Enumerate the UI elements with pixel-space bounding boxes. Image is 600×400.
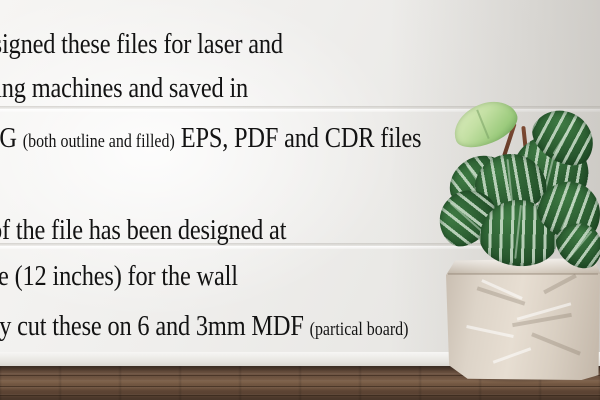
text-overlay: esigned these files for laser and tting … [0, 0, 600, 400]
overlay-line-3: VG (both outline and filled) EPS, PDF an… [0, 122, 421, 155]
overlay-line-4: of the file has been designed at [0, 214, 286, 247]
overlay-line-2: tting machines and saved in [0, 72, 248, 105]
overlay-line-6-note: (partical board) [310, 319, 409, 340]
overlay-line-5: de (12 inches) for the wall [0, 260, 238, 293]
product-mockup-scene: esigned these files for laser and tting … [0, 0, 600, 400]
overlay-line-1: esigned these files for laser and [0, 28, 283, 61]
overlay-line-3-note: (both outline and filled) [23, 131, 175, 152]
overlay-line-6-prefix: lly cut these on 6 and 3mm MDF [0, 310, 310, 342]
overlay-line-3-prefix: VG [0, 122, 23, 154]
overlay-line-3-suffix: EPS, PDF and CDR files [175, 122, 422, 154]
overlay-line-6: lly cut these on 6 and 3mm MDF (partical… [0, 310, 408, 343]
